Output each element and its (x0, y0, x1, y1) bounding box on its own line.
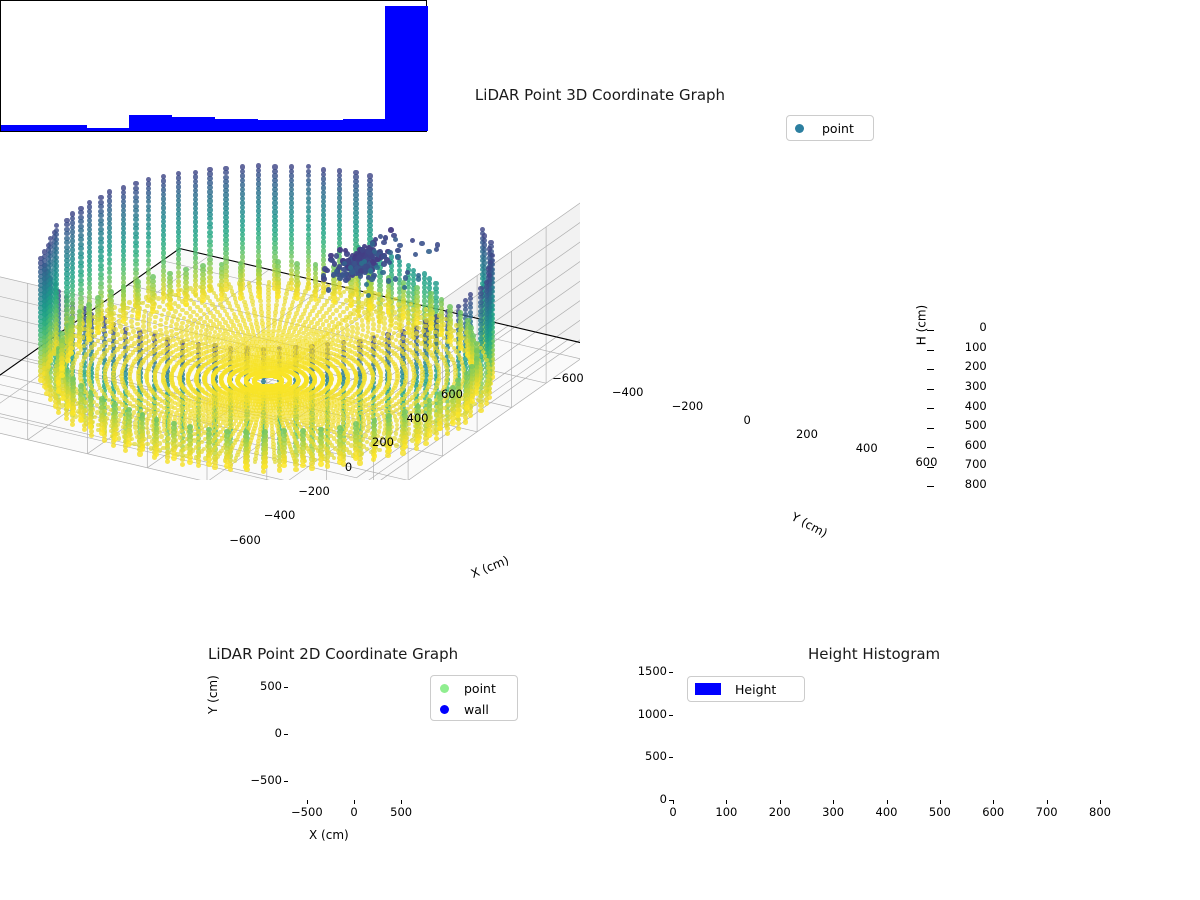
scatter-point (376, 314, 381, 319)
scatter-point (253, 460, 258, 465)
legend-label-point: point (822, 121, 854, 136)
scatter-point (166, 450, 171, 455)
scatter-point (162, 415, 167, 420)
scatter-point (377, 324, 382, 329)
scatter-point (197, 419, 202, 424)
scatter-point (345, 323, 350, 328)
scatter-point (178, 435, 183, 440)
point-marker-icon (795, 124, 804, 133)
scatter-point (162, 419, 167, 424)
scatter-point (416, 326, 421, 331)
scatter-point (46, 363, 51, 368)
scatter-point (406, 315, 411, 320)
scatter-point (468, 413, 473, 418)
scatter-point (70, 422, 75, 427)
scatter-point (133, 421, 138, 426)
scatter-point (366, 325, 371, 330)
scatter-point (123, 448, 128, 453)
scatter-point (377, 429, 382, 434)
scatter-point (145, 442, 150, 447)
scatter-point (414, 446, 419, 451)
scatter-point (147, 413, 152, 418)
scatter-point (443, 418, 448, 423)
scatter-point (93, 415, 98, 420)
scatter-point (377, 319, 382, 324)
scatter-point (381, 311, 386, 316)
scatter-point (111, 443, 116, 448)
scatter-point (201, 413, 206, 418)
scatter-point (312, 458, 317, 463)
scatter-point (162, 428, 167, 433)
scatter-point (45, 375, 50, 380)
scatter-point (371, 317, 376, 322)
scatter-point (400, 450, 405, 455)
scatter-point (388, 324, 393, 329)
scatter-point (56, 410, 61, 415)
scatter-point (165, 443, 170, 448)
scatter-point (133, 425, 138, 430)
scatter-point (376, 292, 381, 297)
scatter-point (379, 306, 384, 311)
scatter-point (145, 421, 150, 426)
plot3d-legend[interactable]: point (786, 115, 874, 141)
scatter-point (423, 324, 428, 329)
scatter-point (196, 463, 201, 468)
scatter-point (369, 312, 374, 317)
scatter-point (82, 427, 87, 432)
scatter-point (277, 467, 282, 472)
scatter-point (165, 459, 170, 464)
scatter-point (360, 451, 365, 456)
scatter-point (293, 467, 298, 472)
scatter-point (371, 322, 376, 327)
scatter-point (46, 379, 51, 384)
scatter-point (121, 409, 126, 414)
scatter-point (121, 425, 126, 430)
scatter-point (399, 323, 404, 328)
scatter-point (364, 315, 369, 320)
legend-item-point[interactable]: point (787, 116, 873, 140)
scatter-point (213, 457, 218, 462)
scatter-point (380, 298, 385, 303)
scatter-point (104, 416, 109, 421)
scatter-point (159, 434, 164, 439)
scatter-point (102, 437, 107, 442)
scatter-point (233, 459, 238, 464)
scatter-point (134, 430, 139, 435)
scatter-point (261, 469, 266, 474)
scatter-point (180, 462, 185, 467)
matplotlib-figure: LiDAR Point 3D Coordinate Graph point −6… (0, 0, 1200, 900)
scatter-point (194, 455, 199, 460)
scatter-point (393, 297, 398, 302)
scatter-point (53, 403, 58, 408)
scatter-point (353, 317, 358, 322)
scatter-point (182, 418, 187, 423)
scatter-point (381, 331, 386, 336)
scatter-point (132, 410, 137, 415)
scatter-point (45, 367, 50, 372)
scatter-point (478, 408, 483, 413)
scatter-point (118, 413, 123, 418)
scatter-point (71, 361, 76, 366)
scatter-point (371, 327, 376, 332)
scatter-point (382, 316, 387, 321)
scatter-point (293, 459, 298, 464)
scatter-point (49, 388, 54, 393)
scatter-point (445, 431, 450, 436)
scatter-point (137, 451, 142, 456)
scatter-point (38, 377, 43, 382)
scatter-point (423, 441, 428, 446)
scatter-point (212, 464, 217, 469)
scatter-point (47, 359, 52, 364)
scatter-point (147, 435, 152, 440)
scatter-point (382, 321, 387, 326)
scatter-point (162, 423, 167, 428)
scatter-point (309, 465, 314, 470)
scatter-point (132, 442, 137, 447)
scatter-point (403, 331, 408, 336)
scatter-point (48, 355, 53, 360)
scatter-point (47, 384, 52, 389)
scatter-point (410, 438, 415, 443)
scatter-point (134, 417, 139, 422)
scatter-point (463, 419, 468, 424)
scatter-point (388, 318, 393, 323)
scatter-point (434, 436, 439, 441)
scatter-point (135, 435, 140, 440)
scatter-point (177, 421, 182, 426)
scatter-point (198, 423, 203, 428)
scatter-point (361, 328, 366, 333)
scatter-point (456, 426, 461, 431)
scatter-point (149, 446, 154, 451)
scatter-point (146, 430, 151, 435)
scatter-point (376, 329, 381, 334)
scatter-point (64, 416, 69, 421)
scatter-point (385, 453, 390, 458)
scatter-point (396, 302, 401, 307)
scatter-point (484, 401, 489, 406)
scatter-point (391, 305, 396, 310)
scatter-point (145, 417, 150, 422)
scatter-point (89, 433, 94, 438)
